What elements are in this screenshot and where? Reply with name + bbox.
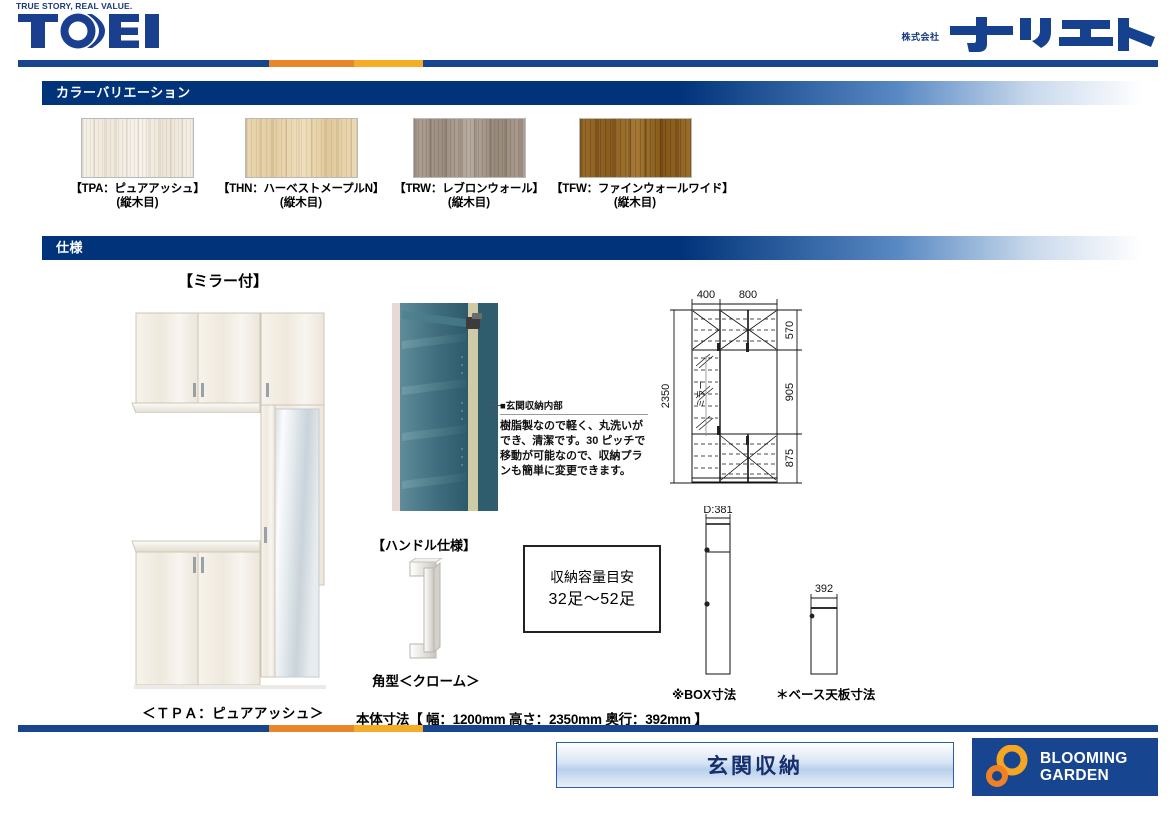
toei-logo: TRUE STORY, REAL VALUE. — [16, 2, 196, 52]
handle-illustration — [398, 558, 454, 662]
swatch-grain-label: (縦木目) — [387, 196, 551, 210]
header-rule — [18, 60, 1158, 67]
mirror-title: 【ミラー付】 — [178, 270, 268, 291]
handle-icon — [193, 557, 196, 573]
technical-drawing-side: D:381 392 — [668, 506, 868, 691]
color-swatch-item[interactable]: 【THN：ハーベストメープルN】 (縦木目) — [215, 118, 387, 210]
handle-icon — [266, 383, 269, 397]
swatch-thn[interactable] — [245, 118, 358, 178]
interior-photo — [388, 297, 502, 517]
swatch-tfw[interactable] — [579, 118, 692, 178]
orient-company-prefix: 株式会社 — [902, 30, 940, 43]
handle-icon — [201, 383, 204, 397]
bg-line2: GARDEN — [1040, 767, 1128, 784]
swatch-label: 【TFW：ファインウォールワイド】 — [551, 182, 719, 196]
swatch-grain — [580, 119, 691, 177]
swatch-label: 【THN：ハーベストメープルN】 — [215, 182, 387, 196]
callout-body: 樹脂製なので軽く、丸洗いができ、清潔です。30 ピッチで移動が可能なので、収納プ… — [500, 419, 648, 479]
front-elevation-svg: 400 800 2350 570 905 875 — [660, 286, 835, 501]
handle-icon — [201, 557, 204, 573]
section-header-color-variation: カラーバリエーション — [42, 81, 1142, 105]
swatch-tpa[interactable] — [81, 118, 194, 178]
capacity-box: 収納容量目安 32足〜52足 — [523, 545, 661, 633]
drawing-caption-box: ※BOX寸法 — [672, 684, 736, 703]
color-swatch-item[interactable]: 【TFW：ファインウォールワイド】 (縦木目) — [551, 118, 719, 210]
swatch-label: 【TRW：レブロンウォール】 — [387, 182, 551, 196]
capacity-value: 32足〜52足 — [548, 588, 635, 612]
swatch-grain — [82, 119, 193, 177]
dim-upper-height: 570 — [784, 321, 796, 339]
handle-spec-title: 【ハンドル仕様】 — [372, 535, 476, 554]
dim-total-height: 2350 — [660, 384, 672, 408]
blooming-garden-mark-icon — [984, 745, 1030, 789]
orient-wordmark-svg — [946, 14, 1161, 54]
cabinet-photo — [128, 305, 332, 693]
dim-width-left: 400 — [697, 289, 715, 301]
orient-logo: 株式会社 — [891, 14, 1161, 56]
page-root: TRUE STORY, REAL VALUE. 株式会社 — [0, 0, 1175, 816]
bg-line1: BLOOMING — [1040, 750, 1128, 767]
dim-depth-base: 392 — [815, 583, 833, 595]
swatch-grain-label: (縦木目) — [60, 196, 215, 210]
dim-depth-box: D:381 — [703, 506, 732, 516]
drawing-caption-base: ＊ベース天板寸法 — [776, 684, 875, 703]
footer-product-title: 玄関収納 — [556, 742, 954, 788]
swatch-grain — [246, 119, 357, 177]
footer-product-title-text: 玄関収納 — [707, 750, 803, 780]
interior-illustration — [388, 297, 502, 517]
peg-holes — [461, 356, 463, 466]
swatch-grain-label: (縦木目) — [551, 196, 719, 210]
interior-callout: ■玄関収納内部 樹脂製なので軽く、丸洗いができ、清潔です。30 ピッチで移動が可… — [500, 398, 648, 479]
handle-icon — [193, 383, 196, 397]
cabinet-illustration — [128, 305, 332, 693]
toei-wordmark-svg — [16, 12, 166, 50]
footer-rule — [18, 725, 1158, 732]
color-swatch-item[interactable]: 【TRW：レブロンウォール】 (縦木目) — [387, 118, 551, 210]
swatch-trw[interactable] — [413, 118, 526, 178]
side-view-svg: D:381 392 — [668, 506, 868, 686]
capacity-label: 収納容量目安 — [550, 566, 634, 588]
swatch-grain — [414, 119, 525, 177]
toei-tagline: TRUE STORY, REAL VALUE. — [16, 2, 196, 11]
callout-title: ■玄関収納内部 — [500, 398, 648, 415]
swatch-label: 【TPA：ピュアアッシュ】 — [60, 182, 215, 196]
technical-drawing-front: 400 800 2350 570 905 875 — [660, 286, 835, 506]
handle-icon — [264, 527, 267, 543]
section-header-spec: 仕様 — [42, 236, 1142, 260]
handle-caption: 角型＜クローム＞ — [372, 670, 480, 690]
dim-middle-height: 905 — [784, 383, 796, 401]
toei-wordmark — [16, 12, 196, 55]
orient-wordmark — [946, 14, 1161, 59]
cabinet-caption: ＜ＴＰＡ：ピュアアッシュ＞ — [128, 702, 338, 722]
color-swatch-row: 【TPA：ピュアアッシュ】 (縦木目) 【THN：ハーベストメープルN】 (縦木… — [42, 118, 742, 228]
dim-mirror-label: ミラー — [696, 380, 707, 407]
swatch-grain-label: (縦木目) — [215, 196, 387, 210]
blooming-garden-wordmark: BLOOMING GARDEN — [1040, 750, 1128, 784]
handle-photo — [398, 558, 454, 667]
blooming-garden-logo: BLOOMING GARDEN — [972, 738, 1158, 796]
dim-lower-height: 875 — [784, 449, 796, 467]
color-swatch-item[interactable]: 【TPA：ピュアアッシュ】 (縦木目) — [60, 118, 215, 210]
dim-width-right: 800 — [739, 289, 757, 301]
